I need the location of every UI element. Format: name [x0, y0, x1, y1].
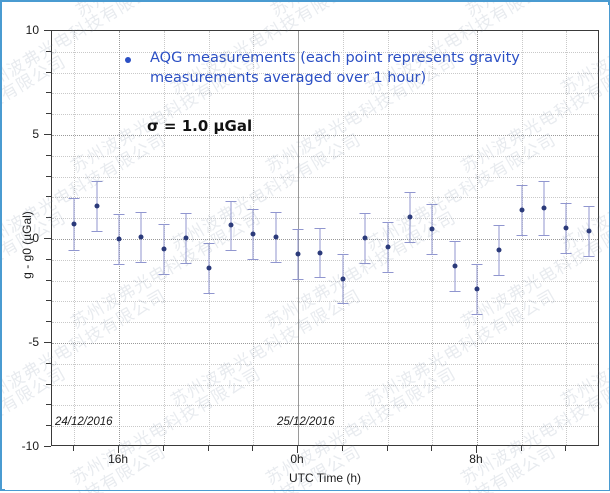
data-point	[363, 235, 368, 240]
x-axis-tick	[73, 446, 74, 451]
error-bar-cap	[471, 264, 482, 265]
error-bar-cap	[516, 185, 527, 186]
x-axis-tick	[387, 446, 388, 451]
x-axis-tick-label: 16h	[108, 452, 128, 466]
error-bar-cap	[203, 293, 214, 294]
error-bar-cap	[136, 262, 147, 263]
error-bar-cap	[337, 303, 348, 304]
data-point	[519, 207, 524, 212]
y-axis-tick	[44, 342, 51, 343]
error-bar-cap	[583, 256, 594, 257]
y-axis-tick	[44, 446, 51, 447]
error-bar-cap	[248, 209, 259, 210]
error-bar-cap	[203, 243, 214, 244]
y-axis-tick-label: -5	[5, 335, 39, 349]
x-axis-tick	[521, 446, 522, 451]
sigma-annotation: σ = 1.0 µGal	[147, 117, 252, 135]
gridline-horizontal	[52, 322, 598, 323]
data-point	[139, 234, 144, 239]
error-bar-cap	[427, 204, 438, 205]
x-axis-tick-label: 8h	[469, 452, 482, 466]
y-axis-tick-label: 10	[5, 23, 39, 37]
error-bar-cap	[248, 259, 259, 260]
gridline-horizontal	[52, 156, 598, 157]
data-point	[94, 203, 99, 208]
error-bar-cap	[136, 212, 147, 213]
data-point	[296, 251, 301, 256]
error-bar-cap	[360, 213, 371, 214]
error-bar-cap	[270, 212, 281, 213]
data-point	[72, 222, 77, 227]
error-bar-cap	[69, 198, 80, 199]
gridline-vertical	[343, 31, 344, 445]
x-axis-title: UTC Time (h)	[51, 471, 599, 485]
x-axis-tick-label: 0h	[290, 452, 303, 466]
x-axis-tick	[163, 446, 164, 451]
legend-marker-icon	[125, 57, 131, 63]
error-bar-cap	[404, 242, 415, 243]
error-bar-cap	[404, 192, 415, 193]
error-bar-cap	[69, 250, 80, 251]
error-bar-cap	[494, 225, 505, 226]
data-point	[385, 245, 390, 250]
error-bar-cap	[158, 224, 169, 225]
x-axis-tick	[252, 446, 253, 451]
error-bar-cap	[561, 253, 572, 254]
error-bar-cap	[337, 254, 348, 255]
gridline-horizontal	[52, 93, 598, 94]
data-point	[117, 237, 122, 242]
gridline-horizontal	[52, 385, 598, 386]
error-bar-cap	[225, 201, 236, 202]
error-bar-cap	[382, 272, 393, 273]
data-point	[228, 223, 233, 228]
y-axis-tick	[44, 134, 51, 135]
error-bar-cap	[382, 222, 393, 223]
error-bar-cap	[181, 263, 192, 264]
gridline-horizontal	[52, 301, 598, 302]
gridline-horizontal	[52, 364, 598, 365]
error-bar-cap	[516, 235, 527, 236]
y-axis-title: g - g0 (µGal)	[20, 175, 34, 315]
data-point	[474, 286, 479, 291]
error-bar-cap	[114, 264, 125, 265]
data-point	[452, 264, 457, 269]
gridline-horizontal	[52, 135, 598, 136]
date-label-left: 24/12/2016	[55, 416, 113, 428]
data-point	[497, 248, 502, 253]
gridline-horizontal	[52, 114, 598, 115]
y-axis-tick-label: 5	[5, 127, 39, 141]
gridline-vertical	[477, 31, 478, 445]
error-bar-cap	[315, 277, 326, 278]
error-bar-cap	[583, 206, 594, 207]
data-point	[542, 205, 547, 210]
x-axis-tick	[342, 446, 343, 451]
legend-label: AQG measurements (each point represents …	[150, 49, 575, 88]
error-bar-cap	[449, 291, 460, 292]
error-bar-cap	[360, 263, 371, 264]
gridline-horizontal	[52, 218, 598, 219]
chart-figure: g - g0 (µGal) UTC Time (h) -10-5051016h0…	[5, 5, 609, 490]
legend: AQG measurements (each point represents …	[125, 49, 575, 88]
gridline-horizontal	[52, 197, 598, 198]
error-bar-cap	[158, 274, 169, 275]
data-point	[318, 250, 323, 255]
data-point	[206, 266, 211, 271]
error-bar-cap	[315, 228, 326, 229]
gridline-horizontal	[52, 343, 598, 344]
date-label-right: 25/12/2016	[277, 416, 335, 428]
data-point	[273, 234, 278, 239]
error-bar-cap	[181, 213, 192, 214]
error-bar-cap	[427, 254, 438, 255]
error-bar-cap	[539, 181, 550, 182]
gridline-vertical	[209, 31, 210, 445]
error-bar-cap	[494, 275, 505, 276]
x-axis-tick	[208, 446, 209, 451]
data-point	[161, 247, 166, 252]
error-bar-cap	[91, 181, 102, 182]
gridline-horizontal	[52, 281, 598, 282]
data-point	[586, 228, 591, 233]
gridline-horizontal	[52, 239, 598, 240]
error-bar-cap	[293, 229, 304, 230]
gridline-horizontal	[52, 260, 598, 261]
error-bar-cap	[114, 214, 125, 215]
error-bar-cap	[471, 314, 482, 315]
error-bar-cap	[293, 279, 304, 280]
y-axis-tick-label: 0	[5, 231, 39, 245]
data-point	[340, 276, 345, 281]
gridline-horizontal	[52, 177, 598, 178]
y-axis-tick-label: -10	[5, 439, 39, 453]
error-bar-cap	[270, 262, 281, 263]
data-point	[184, 235, 189, 240]
error-bar-cap	[225, 250, 236, 251]
y-axis-tick	[44, 30, 51, 31]
gridline-horizontal	[52, 405, 598, 406]
image-frame: g - g0 (µGal) UTC Time (h) -10-5051016h0…	[0, 0, 610, 491]
x-axis-tick	[565, 446, 566, 451]
data-point	[430, 226, 435, 231]
data-point	[251, 231, 256, 236]
error-bar-cap	[561, 203, 572, 204]
plot-area	[51, 30, 599, 446]
y-axis-tick	[44, 238, 51, 239]
data-point	[407, 215, 412, 220]
x-axis-tick	[431, 446, 432, 451]
error-bar-cap	[91, 231, 102, 232]
error-bar-cap	[539, 235, 550, 236]
error-bar-cap	[449, 241, 460, 242]
data-point	[564, 225, 569, 230]
gridline-vertical	[522, 31, 523, 445]
